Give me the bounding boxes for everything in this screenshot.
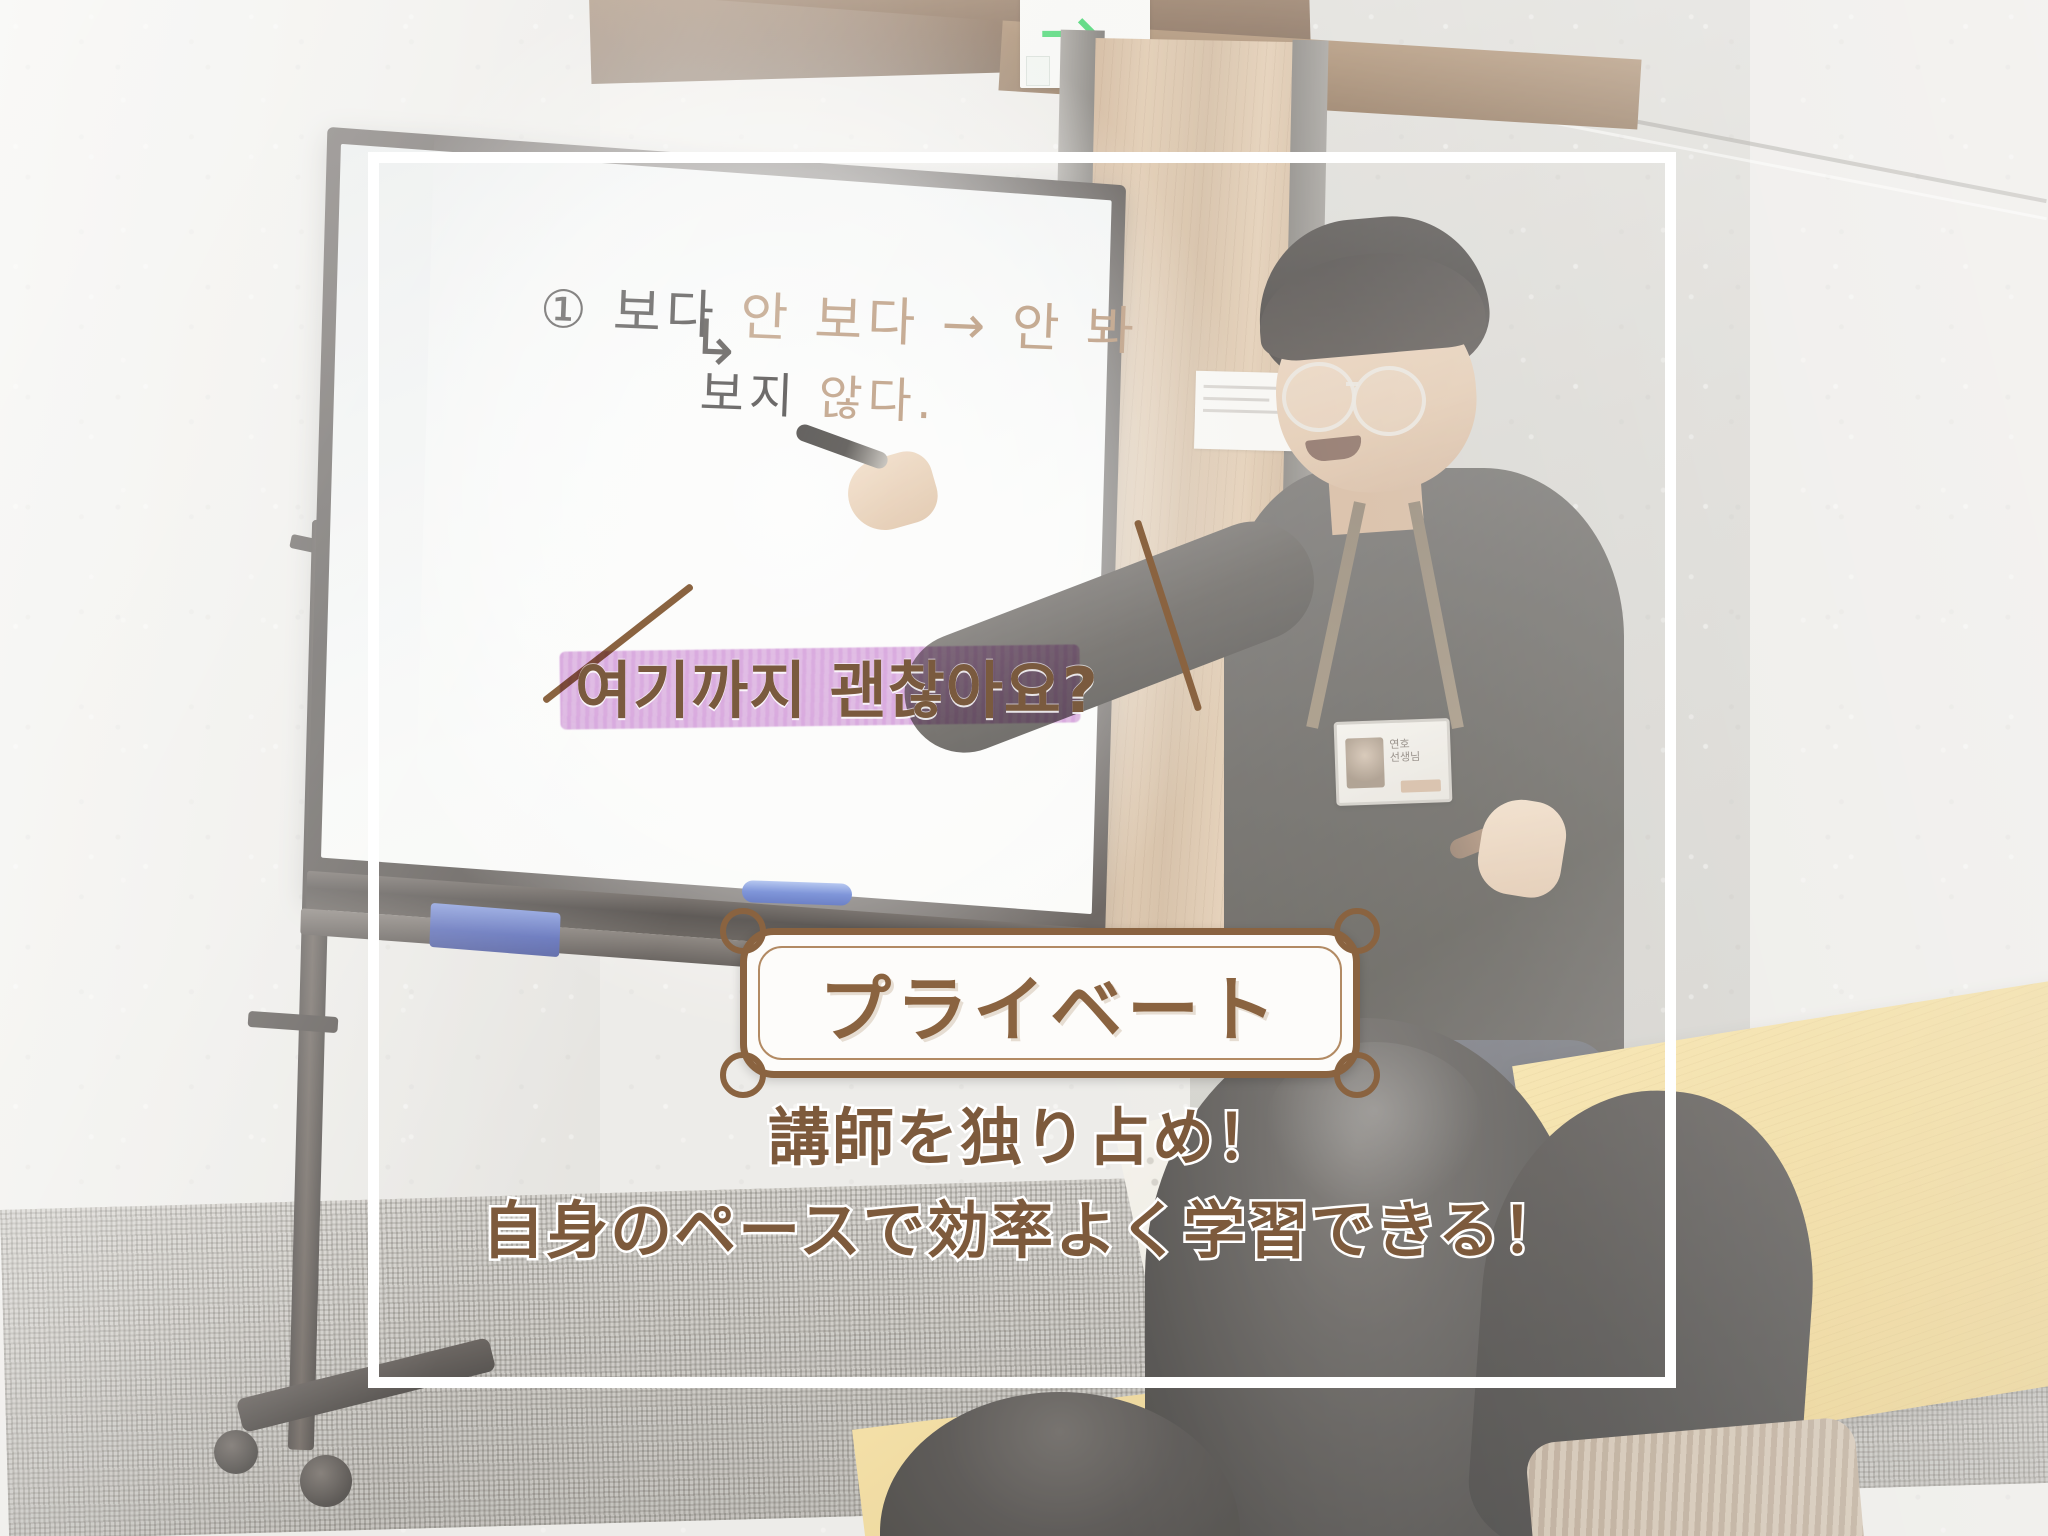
id-badge-name-line2: 선생님	[1390, 750, 1442, 765]
poster-canvas: → ① 보다 안 보다 → 안 봐 ↳	[0, 0, 2048, 1536]
badge-title-text: プライベート	[740, 928, 1360, 1078]
instructor-glasses-bridge	[1346, 382, 1358, 386]
whiteboard-marker	[742, 880, 853, 906]
id-badge-logo	[1401, 779, 1441, 792]
exit-person-icon	[1026, 56, 1050, 86]
whiteboard-surface	[321, 144, 1112, 914]
private-lesson-badge: プライベート	[740, 928, 1360, 1078]
id-badge-name: 연호 선생님	[1389, 737, 1442, 765]
whiteboard	[306, 127, 1126, 955]
korean-question-text: 여기까지 괜찮아요?	[575, 640, 1099, 730]
whiteboard-caster-rear	[214, 1430, 258, 1474]
background-photograph: → ① 보다 안 보다 → 안 봐 ↳	[0, 0, 2048, 1536]
whiteboard-caster	[300, 1455, 352, 1507]
instructor-id-badge: 연호 선생님	[1334, 718, 1453, 806]
id-badge-photo	[1345, 737, 1385, 788]
